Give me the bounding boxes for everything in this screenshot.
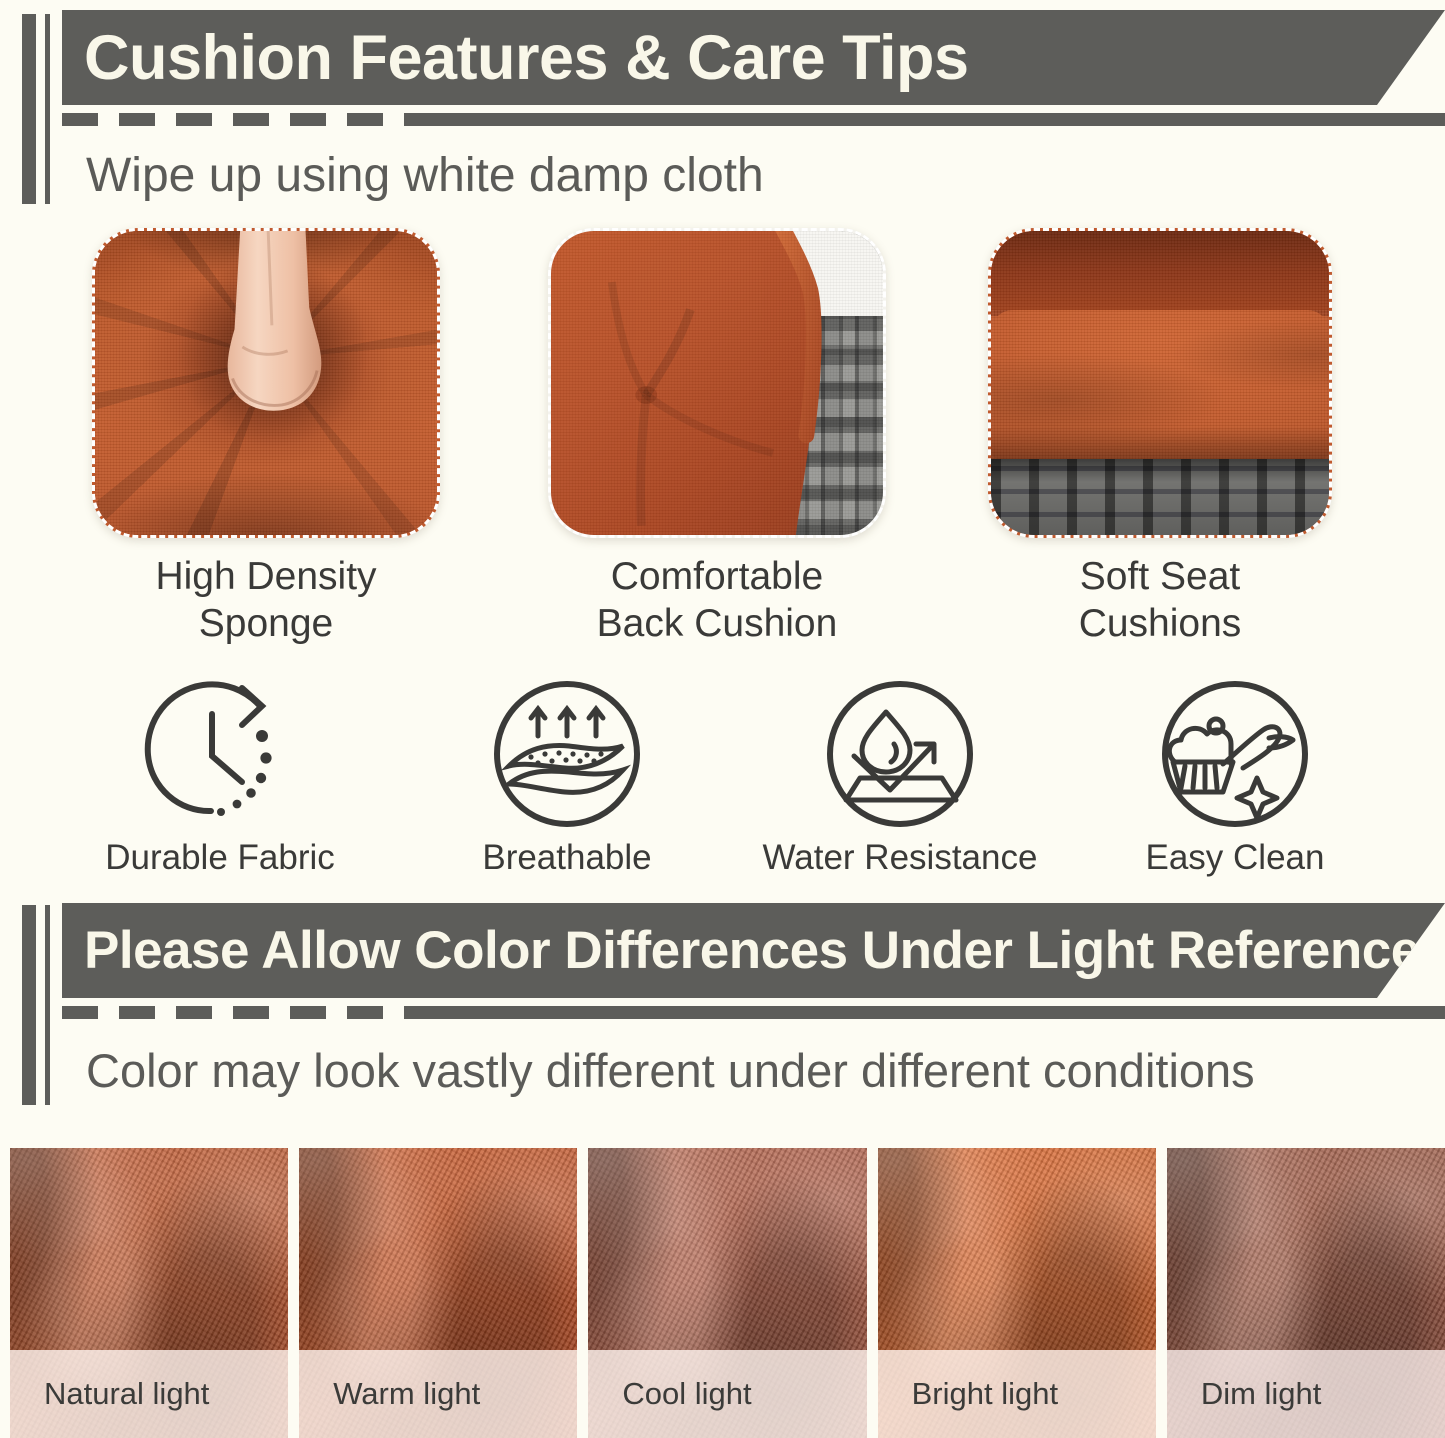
divider-dash bbox=[176, 1006, 212, 1019]
high-density-sponge-label: High Density Sponge bbox=[155, 554, 376, 648]
swatch-bright-light: Bright light bbox=[878, 1148, 1156, 1438]
divider-dash bbox=[233, 113, 269, 126]
divider-bar bbox=[404, 113, 1445, 126]
card-label-line2: Back Cushion bbox=[597, 601, 838, 648]
features-subtitle: Wipe up using white damp cloth bbox=[86, 148, 764, 203]
swatch-label: Cool light bbox=[588, 1376, 751, 1412]
color-banner-title: Please Allow Color Differences Under Lig… bbox=[84, 920, 1445, 981]
swatch-label: Bright light bbox=[878, 1376, 1058, 1412]
easy-clean-label: Easy Clean bbox=[1146, 838, 1325, 878]
swatch-label: Dim light bbox=[1167, 1376, 1322, 1412]
breathable-fabric-icon bbox=[483, 678, 651, 830]
divider-dash bbox=[119, 113, 155, 126]
features-banner-bar: Cushion Features & Care Tips bbox=[62, 10, 1445, 105]
feature-card-soft-seat-cushions: Soft Seat Cushions bbox=[988, 228, 1332, 648]
divider-dash bbox=[119, 1006, 155, 1019]
light-condition-swatch-strip: Natural light Warm light Cool light Brig… bbox=[10, 1148, 1445, 1438]
seat-cushion-photo bbox=[988, 228, 1332, 538]
color-banner-rail-thick bbox=[22, 905, 36, 1105]
high-density-sponge-photo bbox=[92, 228, 440, 538]
divider-bar bbox=[404, 1006, 1445, 1019]
divider-dash bbox=[347, 113, 383, 126]
divider-dash bbox=[176, 113, 212, 126]
card-label-line1: Comfortable bbox=[597, 554, 838, 601]
feature-icon-breathable: Breathable bbox=[472, 678, 662, 878]
clock-arrow-icon bbox=[129, 678, 311, 830]
breathable-label: Breathable bbox=[482, 838, 651, 878]
card-label-line2: Sponge bbox=[155, 601, 376, 648]
features-banner-title: Cushion Features & Care Tips bbox=[84, 22, 969, 94]
divider-dash bbox=[347, 1006, 383, 1019]
water-resistance-label: Water Resistance bbox=[763, 838, 1038, 878]
seat-cushion-label: Soft Seat Cushions bbox=[1079, 554, 1242, 648]
hand-icon bbox=[95, 231, 437, 536]
swatch-cool-light: Cool light bbox=[588, 1148, 866, 1438]
back-cushion-photo bbox=[548, 228, 886, 538]
brush-sparkle-icon bbox=[1151, 678, 1319, 830]
feature-card-comfortable-back-cushion: Comfortable Back Cushion bbox=[548, 228, 886, 648]
divider-dash bbox=[62, 113, 98, 126]
card-label-line1: Soft Seat bbox=[1079, 554, 1242, 601]
swatch-label: Natural light bbox=[10, 1376, 209, 1412]
feature-icon-water-resistance: Water Resistance bbox=[755, 678, 1045, 878]
features-banner-rail-thick bbox=[22, 14, 36, 204]
back-cushion-label: Comfortable Back Cushion bbox=[597, 554, 838, 648]
divider-dash bbox=[233, 1006, 269, 1019]
divider-dash bbox=[290, 1006, 326, 1019]
features-dash-divider bbox=[62, 113, 1445, 126]
feature-icon-easy-clean: Easy Clean bbox=[1120, 678, 1350, 878]
color-dash-divider bbox=[62, 1006, 1445, 1019]
feature-card-high-density-sponge: High Density Sponge bbox=[92, 228, 440, 648]
features-banner-rail-thin bbox=[45, 14, 50, 204]
card-label-line2: Cushions bbox=[1079, 601, 1242, 648]
color-banner-rail-thin bbox=[45, 905, 50, 1105]
swatch-natural-light: Natural light bbox=[10, 1148, 288, 1438]
divider-dash bbox=[62, 1006, 98, 1019]
color-banner-bar: Please Allow Color Differences Under Lig… bbox=[62, 903, 1445, 998]
swatch-dim-light: Dim light bbox=[1167, 1148, 1445, 1438]
swatch-warm-light: Warm light bbox=[299, 1148, 577, 1438]
divider-dash bbox=[290, 113, 326, 126]
feature-icon-durable-fabric: Durable Fabric bbox=[95, 678, 345, 878]
durable-fabric-label: Durable Fabric bbox=[105, 838, 335, 878]
swatch-label: Warm light bbox=[299, 1376, 480, 1412]
card-label-line1: High Density bbox=[155, 554, 376, 601]
color-subtitle: Color may look vastly different under di… bbox=[86, 1043, 1255, 1098]
water-droplet-repel-icon bbox=[816, 678, 984, 830]
